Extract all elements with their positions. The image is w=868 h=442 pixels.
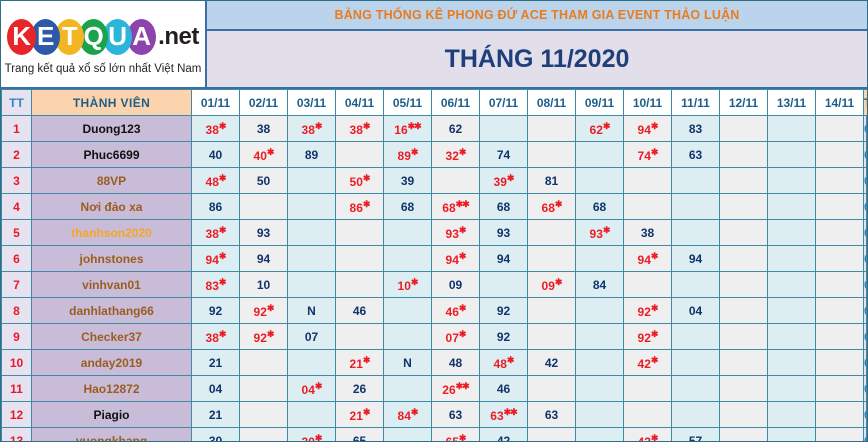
score-cell[interactable]: [528, 428, 576, 442]
score-cell[interactable]: 74✱: [624, 142, 672, 168]
score-cell[interactable]: [816, 402, 864, 428]
member-name[interactable]: thanhson2020: [32, 220, 192, 246]
member-name-text: vinhvan01: [82, 278, 141, 292]
table-row[interactable]: 1Duong12338✱3838✱38✱16✱✱6262✱94✱83010: [2, 116, 868, 142]
score-cell[interactable]: 38✱: [192, 116, 240, 142]
score-cell[interactable]: [240, 428, 288, 442]
score-value: 46: [497, 382, 510, 396]
score-value: 30: [302, 435, 315, 442]
score-cell[interactable]: [576, 402, 624, 428]
table-row[interactable]: 11Hao128720404✱2626✱✱4605: [2, 376, 868, 402]
score-cell[interactable]: [816, 194, 864, 220]
member-name[interactable]: Phuc6699: [32, 142, 192, 168]
score-cell[interactable]: [528, 116, 576, 142]
score-cell[interactable]: [384, 298, 432, 324]
col-header-day-12[interactable]: 12/11: [720, 90, 768, 116]
page-banner: KETQUA.net Trang kết quả xổ số lớn nhất …: [1, 1, 867, 89]
score-cell[interactable]: [720, 168, 768, 194]
score-cell[interactable]: 83✱: [192, 272, 240, 298]
score-cell[interactable]: 39: [384, 168, 432, 194]
score-value: 48: [449, 356, 462, 370]
score-value: 94: [689, 252, 702, 266]
score-cell[interactable]: 94✱: [624, 116, 672, 142]
score-cell[interactable]: [672, 324, 720, 350]
score-cell[interactable]: 93: [240, 220, 288, 246]
score-star-marker: ✱✱: [456, 199, 469, 209]
score-cell[interactable]: [816, 168, 864, 194]
score-value: 38: [206, 331, 219, 345]
score-star-marker: ✱: [651, 355, 658, 365]
score-value: 63: [490, 409, 503, 423]
score-cell[interactable]: [432, 168, 480, 194]
score-cell[interactable]: [816, 298, 864, 324]
score-value: 46: [446, 305, 459, 319]
table-row[interactable]: 13vuongkhang3030✱6565✱4242✱5705: [2, 428, 868, 442]
table-row[interactable]: 9Checker3738✱92✱0707✱9292✱06: [2, 324, 868, 350]
score-value: 93: [257, 226, 270, 240]
table-head: TT THÀNH VIÊN 01/1102/1103/1104/1105/110…: [2, 90, 868, 116]
score-value: 40: [254, 149, 267, 163]
score-cell[interactable]: 26: [336, 376, 384, 402]
score-cell[interactable]: 32✱: [432, 142, 480, 168]
score-cell[interactable]: 21✱: [336, 402, 384, 428]
score-cell[interactable]: 21✱: [336, 350, 384, 376]
score-cell[interactable]: [384, 376, 432, 402]
score-cell[interactable]: 62: [432, 116, 480, 142]
member-name[interactable]: 88VP: [32, 168, 192, 194]
score-cell[interactable]: [624, 168, 672, 194]
score-cell[interactable]: 92: [192, 298, 240, 324]
score-cell[interactable]: 30: [192, 428, 240, 442]
table-row[interactable]: 6johnstones94✱9494✱9494✱9407: [2, 246, 868, 272]
score-value: 38: [206, 123, 219, 137]
score-cell[interactable]: 30✱: [288, 428, 336, 442]
score-cell[interactable]: 94✱: [192, 246, 240, 272]
score-cell[interactable]: [768, 116, 816, 142]
score-cell[interactable]: 46: [336, 298, 384, 324]
score-cell[interactable]: [528, 142, 576, 168]
row-index: 5: [2, 220, 32, 246]
score-value: 68: [497, 200, 510, 214]
member-name-text: Phuc6699: [83, 148, 139, 162]
score-value: 42: [497, 434, 510, 442]
score-star-marker: ✱: [219, 277, 226, 287]
col-header-day-3[interactable]: 03/11: [288, 90, 336, 116]
score-cell[interactable]: 68✱✱: [432, 194, 480, 220]
header-titles: BẢNG THỐNG KÊ PHONG ĐỨ ACE THAM GIA EVEN…: [207, 1, 867, 87]
col-header-tt[interactable]: TT: [2, 90, 32, 116]
score-cell[interactable]: [768, 298, 816, 324]
score-cell[interactable]: 89✱: [384, 142, 432, 168]
score-star-marker: ✱: [363, 173, 370, 183]
score-cell[interactable]: 10✱: [384, 272, 432, 298]
score-value: 92: [254, 331, 267, 345]
col-header-day-7[interactable]: 07/11: [480, 90, 528, 116]
score-star-marker: ✱: [459, 147, 466, 157]
score-cell[interactable]: 94: [240, 246, 288, 272]
row-index: 12: [2, 402, 32, 428]
score-cell[interactable]: [720, 246, 768, 272]
score-cell[interactable]: [816, 376, 864, 402]
score-value: 04: [689, 304, 702, 318]
score-cell[interactable]: 39✱: [480, 168, 528, 194]
score-cell[interactable]: 63: [672, 142, 720, 168]
score-cell[interactable]: 92✱: [624, 324, 672, 350]
row-index: 7: [2, 272, 32, 298]
member-name[interactable]: Piagio: [32, 402, 192, 428]
score-cell[interactable]: [672, 194, 720, 220]
score-cell[interactable]: [816, 142, 864, 168]
table-row[interactable]: 7vinhvan0183✱1010✱0909✱8406: [2, 272, 868, 298]
score-value: 93: [590, 227, 603, 241]
col-header-day-9[interactable]: 09/11: [576, 90, 624, 116]
score-cell[interactable]: [816, 272, 864, 298]
logo-letter-k: K: [7, 19, 36, 55]
score-value: 62: [449, 122, 462, 136]
member-name[interactable]: Hao12872: [32, 376, 192, 402]
score-cell[interactable]: [768, 220, 816, 246]
score-cell[interactable]: 04: [192, 376, 240, 402]
score-cell[interactable]: 94✱: [624, 246, 672, 272]
score-cell[interactable]: 42: [528, 350, 576, 376]
score-cell[interactable]: [288, 194, 336, 220]
score-cell[interactable]: 86: [192, 194, 240, 220]
score-value: 21: [350, 357, 363, 371]
score-cell[interactable]: [576, 246, 624, 272]
score-cell[interactable]: [576, 376, 624, 402]
score-cell[interactable]: 09: [432, 272, 480, 298]
score-cell[interactable]: 68: [576, 194, 624, 220]
score-cell[interactable]: 38✱: [336, 116, 384, 142]
score-cell[interactable]: [288, 168, 336, 194]
score-cell[interactable]: 26✱✱: [432, 376, 480, 402]
score-cell[interactable]: 42✱: [624, 428, 672, 442]
score-cell[interactable]: [336, 246, 384, 272]
score-cell[interactable]: [816, 116, 864, 142]
score-cell[interactable]: [720, 350, 768, 376]
score-cell[interactable]: [240, 402, 288, 428]
score-cell[interactable]: [720, 324, 768, 350]
score-cell[interactable]: 57: [672, 428, 720, 442]
score-star-marker: ✱: [219, 121, 226, 131]
score-cell[interactable]: 42✱: [624, 350, 672, 376]
score-cell[interactable]: [816, 428, 864, 442]
score-cell[interactable]: 46✱: [432, 298, 480, 324]
row-index: 6: [2, 246, 32, 272]
score-cell[interactable]: 94: [480, 246, 528, 272]
score-cell[interactable]: [288, 220, 336, 246]
table-row[interactable]: 12Piagio2121✱84✱6363✱✱6305: [2, 402, 868, 428]
score-value: 86: [209, 200, 222, 214]
member-name[interactable]: anday2019: [32, 350, 192, 376]
score-cell[interactable]: [528, 376, 576, 402]
score-cell[interactable]: [480, 272, 528, 298]
score-cell[interactable]: [720, 116, 768, 142]
score-cell[interactable]: 10: [240, 272, 288, 298]
row-index: 10: [2, 350, 32, 376]
score-cell[interactable]: [336, 220, 384, 246]
score-cell[interactable]: [768, 428, 816, 442]
score-cell[interactable]: 48✱: [480, 350, 528, 376]
score-cell[interactable]: 07: [288, 324, 336, 350]
table-row[interactable]: 10anday20192121✱N4848✱4242✱06: [2, 350, 868, 376]
score-value: 48: [494, 357, 507, 371]
member-name[interactable]: Duong123: [32, 116, 192, 142]
col-header-day-4[interactable]: 04/11: [336, 90, 384, 116]
score-star-marker: ✱: [651, 329, 658, 339]
score-cell[interactable]: [768, 376, 816, 402]
score-value: 40: [209, 148, 222, 162]
col-header-day-13[interactable]: 13/11: [768, 90, 816, 116]
score-value: 38: [206, 227, 219, 241]
score-cell[interactable]: [336, 324, 384, 350]
member-name-text: 88VP: [97, 174, 126, 188]
score-value: 94: [497, 252, 510, 266]
score-cell[interactable]: 63✱✱: [480, 402, 528, 428]
score-star-marker: ✱: [459, 329, 466, 339]
table-row[interactable]: 4Nơi đảo xa8686✱6868✱✱6868✱6807: [2, 194, 868, 220]
score-cell[interactable]: [816, 350, 864, 376]
score-cell[interactable]: 50: [240, 168, 288, 194]
score-value: 38: [641, 226, 654, 240]
score-cell[interactable]: [624, 402, 672, 428]
score-cell[interactable]: [384, 428, 432, 442]
table-row[interactable]: 8danhlathang669292✱N4646✱9292✱0406: [2, 298, 868, 324]
score-cell[interactable]: [768, 350, 816, 376]
score-cell[interactable]: [624, 194, 672, 220]
score-value: 42: [545, 356, 558, 370]
score-value: 21: [350, 409, 363, 423]
score-cell[interactable]: [672, 350, 720, 376]
score-cell[interactable]: [240, 350, 288, 376]
score-cell[interactable]: [768, 194, 816, 220]
table-row[interactable]: 388VP48✱5050✱3939✱8107: [2, 168, 868, 194]
score-cell[interactable]: 65✱: [432, 428, 480, 442]
score-cell[interactable]: [816, 246, 864, 272]
score-cell[interactable]: [288, 272, 336, 298]
col-header-day-11[interactable]: 11/11: [672, 90, 720, 116]
score-value: 65: [353, 434, 366, 442]
score-cell[interactable]: [576, 298, 624, 324]
score-value: 74: [638, 149, 651, 163]
score-cell[interactable]: [384, 246, 432, 272]
score-cell[interactable]: 48✱: [192, 168, 240, 194]
score-cell[interactable]: [768, 142, 816, 168]
score-star-marker: ✱: [651, 251, 658, 261]
score-value: 68: [593, 200, 606, 214]
col-header-total[interactable]: TỔNG KẾT: [864, 90, 868, 116]
member-name[interactable]: johnstones: [32, 246, 192, 272]
score-cell[interactable]: 21: [192, 350, 240, 376]
score-cell[interactable]: [288, 246, 336, 272]
score-cell[interactable]: 38: [624, 220, 672, 246]
score-value: 84: [398, 409, 411, 423]
score-cell[interactable]: [624, 376, 672, 402]
score-cell[interactable]: N: [288, 298, 336, 324]
score-cell[interactable]: 92✱: [240, 324, 288, 350]
row-index: 13: [2, 428, 32, 442]
score-value: 50: [257, 174, 270, 188]
score-cell[interactable]: [768, 402, 816, 428]
score-cell[interactable]: [720, 220, 768, 246]
col-header-day-6[interactable]: 06/11: [432, 90, 480, 116]
member-name-text: Piagio: [93, 408, 129, 422]
score-cell[interactable]: 92✱: [240, 298, 288, 324]
score-cell[interactable]: [816, 220, 864, 246]
score-cell[interactable]: 92: [480, 324, 528, 350]
score-cell[interactable]: 68: [480, 194, 528, 220]
score-cell[interactable]: 09✱: [528, 272, 576, 298]
score-cell[interactable]: 38: [240, 116, 288, 142]
score-cell[interactable]: 68: [384, 194, 432, 220]
score-cell[interactable]: [768, 246, 816, 272]
score-cell[interactable]: 63: [528, 402, 576, 428]
score-value: 93: [497, 226, 510, 240]
score-cell[interactable]: 16✱✱: [384, 116, 432, 142]
score-cell[interactable]: [672, 168, 720, 194]
score-cell[interactable]: [576, 168, 624, 194]
col-header-day-8[interactable]: 08/11: [528, 90, 576, 116]
score-star-marker: ✱: [555, 199, 562, 209]
score-cell[interactable]: [672, 402, 720, 428]
score-cell[interactable]: [576, 142, 624, 168]
score-cell[interactable]: [240, 194, 288, 220]
score-cell[interactable]: [528, 220, 576, 246]
score-star-marker: ✱: [459, 225, 466, 235]
score-cell[interactable]: [240, 376, 288, 402]
score-value: 07: [446, 331, 459, 345]
row-index: 11: [2, 376, 32, 402]
score-cell[interactable]: [720, 298, 768, 324]
score-cell[interactable]: 21: [192, 402, 240, 428]
score-cell[interactable]: 93✱: [432, 220, 480, 246]
score-cell[interactable]: [528, 246, 576, 272]
member-name-text: Checker37: [81, 330, 142, 344]
score-cell[interactable]: [720, 194, 768, 220]
member-name-text: Hao12872: [83, 382, 139, 396]
score-value: 57: [689, 434, 702, 442]
score-cell[interactable]: [576, 428, 624, 442]
score-cell[interactable]: 42: [480, 428, 528, 442]
score-value: 92: [497, 330, 510, 344]
col-header-day-5[interactable]: 05/11: [384, 90, 432, 116]
score-value: 48: [206, 175, 219, 189]
table-row[interactable]: 5thanhson202038✱9393✱9393✱3807: [2, 220, 868, 246]
score-cell[interactable]: [720, 402, 768, 428]
score-cell[interactable]: 63: [432, 402, 480, 428]
score-cell[interactable]: [576, 350, 624, 376]
score-cell[interactable]: [336, 142, 384, 168]
score-star-marker: ✱: [411, 147, 418, 157]
score-value: 86: [350, 201, 363, 215]
score-cell[interactable]: [768, 324, 816, 350]
score-cell[interactable]: [720, 272, 768, 298]
score-cell[interactable]: 68✱: [528, 194, 576, 220]
member-name[interactable]: vuongkhang: [32, 428, 192, 442]
score-cell[interactable]: [480, 116, 528, 142]
score-cell[interactable]: 50✱: [336, 168, 384, 194]
score-star-marker: ✱: [459, 251, 466, 261]
score-cell[interactable]: [768, 272, 816, 298]
score-value: 16: [394, 123, 407, 137]
score-cell[interactable]: 07✱: [432, 324, 480, 350]
score-cell[interactable]: [288, 402, 336, 428]
score-cell[interactable]: 04✱: [288, 376, 336, 402]
score-value: 68: [442, 201, 455, 215]
score-cell[interactable]: [768, 168, 816, 194]
score-cell[interactable]: [672, 376, 720, 402]
member-name[interactable]: danhlathang66: [32, 298, 192, 324]
col-header-day-10[interactable]: 10/11: [624, 90, 672, 116]
score-cell[interactable]: [336, 272, 384, 298]
score-cell[interactable]: [720, 376, 768, 402]
score-cell[interactable]: 62✱: [576, 116, 624, 142]
score-cell[interactable]: 48: [432, 350, 480, 376]
score-cell[interactable]: 92: [480, 298, 528, 324]
score-cell[interactable]: 40✱: [240, 142, 288, 168]
member-name[interactable]: Checker37: [32, 324, 192, 350]
score-cell[interactable]: 04: [672, 298, 720, 324]
score-cell[interactable]: 46: [480, 376, 528, 402]
score-cell[interactable]: [720, 142, 768, 168]
score-cell[interactable]: 38✱: [192, 220, 240, 246]
row-index: 8: [2, 298, 32, 324]
score-cell[interactable]: [816, 324, 864, 350]
score-cell[interactable]: 38✱: [288, 116, 336, 142]
col-header-day-2[interactable]: 02/11: [240, 90, 288, 116]
score-value: 68: [542, 201, 555, 215]
score-cell[interactable]: 38✱: [192, 324, 240, 350]
site-logo[interactable]: KETQUA.net Trang kết quả xổ số lớn nhất …: [1, 1, 207, 87]
score-cell[interactable]: [528, 324, 576, 350]
score-value: 62: [590, 123, 603, 137]
col-header-member[interactable]: THÀNH VIÊN: [32, 90, 192, 116]
member-name-text: anday2019: [81, 356, 142, 370]
score-cell[interactable]: 94✱: [432, 246, 480, 272]
score-cell[interactable]: 93✱: [576, 220, 624, 246]
score-cell[interactable]: [384, 324, 432, 350]
score-value: 04: [209, 382, 222, 396]
score-cell[interactable]: 65: [336, 428, 384, 442]
col-header-day-1[interactable]: 01/11: [192, 90, 240, 116]
col-header-day-14[interactable]: 14/11: [816, 90, 864, 116]
member-name[interactable]: vinhvan01: [32, 272, 192, 298]
member-name[interactable]: Nơi đảo xa: [32, 194, 192, 220]
score-cell[interactable]: [384, 220, 432, 246]
score-cell[interactable]: [672, 220, 720, 246]
score-cell[interactable]: 84: [576, 272, 624, 298]
score-cell[interactable]: [624, 272, 672, 298]
score-value: 63: [449, 408, 462, 422]
score-cell[interactable]: 83: [672, 116, 720, 142]
table-row[interactable]: 2Phuc66994040✱8989✱32✱7474✱6308: [2, 142, 868, 168]
score-cell[interactable]: 81: [528, 168, 576, 194]
score-cell[interactable]: 94: [672, 246, 720, 272]
score-cell[interactable]: [720, 428, 768, 442]
score-cell[interactable]: 86✱: [336, 194, 384, 220]
score-cell[interactable]: [528, 298, 576, 324]
score-cell[interactable]: [672, 272, 720, 298]
score-cell[interactable]: 89: [288, 142, 336, 168]
score-cell[interactable]: N: [384, 350, 432, 376]
score-cell[interactable]: 74: [480, 142, 528, 168]
score-cell[interactable]: 84✱: [384, 402, 432, 428]
score-cell[interactable]: [576, 324, 624, 350]
score-cell[interactable]: 92✱: [624, 298, 672, 324]
score-cell[interactable]: 40: [192, 142, 240, 168]
score-cell[interactable]: [288, 350, 336, 376]
score-cell[interactable]: 93: [480, 220, 528, 246]
